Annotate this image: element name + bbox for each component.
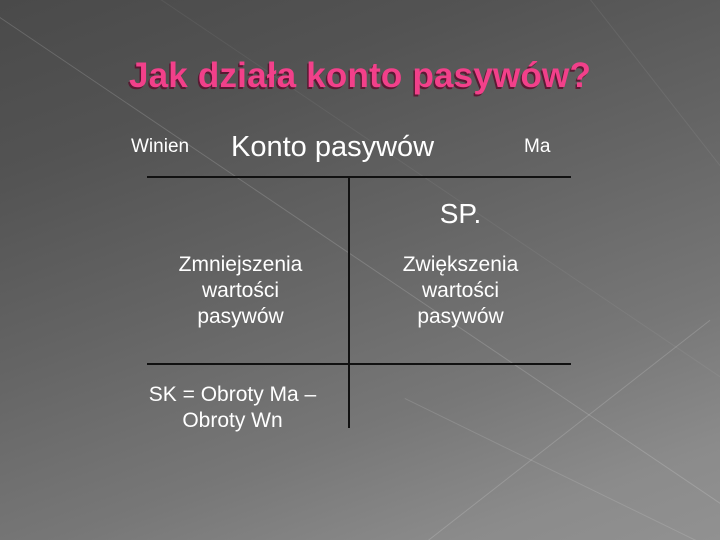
account-bottom-rule (147, 363, 571, 365)
credit-description-line: wartości (351, 278, 570, 304)
credit-description-line: Zwiększenia (351, 252, 570, 278)
debit-description-line: pasywów (134, 304, 347, 330)
closing-formula-line: Obroty Wn (118, 408, 347, 434)
debit-description-line: Zmniejszenia (134, 252, 347, 278)
debit-column-description: Zmniejszenia wartości pasywów (134, 252, 347, 330)
closing-balance-formula: SK = Obroty Ma – Obroty Wn (118, 382, 347, 434)
closing-formula-line: SK = Obroty Ma – (118, 382, 347, 408)
credit-description-line: pasywów (351, 304, 570, 330)
opening-balance-label: SP. (350, 197, 571, 230)
slide-canvas: Jak działa konto pasywów? Winien Konto p… (0, 0, 720, 540)
credit-side-label: Ma (524, 136, 550, 158)
account-name-heading: Konto pasywów (231, 130, 434, 164)
t-account-diagram: Winien Konto pasywów Ma SP. Zmniejszenia… (0, 0, 720, 540)
credit-column-description: Zwiększenia wartości pasywów (351, 252, 570, 330)
debit-side-label: Winien (131, 136, 189, 158)
debit-description-line: wartości (134, 278, 347, 304)
account-top-rule (147, 176, 571, 178)
